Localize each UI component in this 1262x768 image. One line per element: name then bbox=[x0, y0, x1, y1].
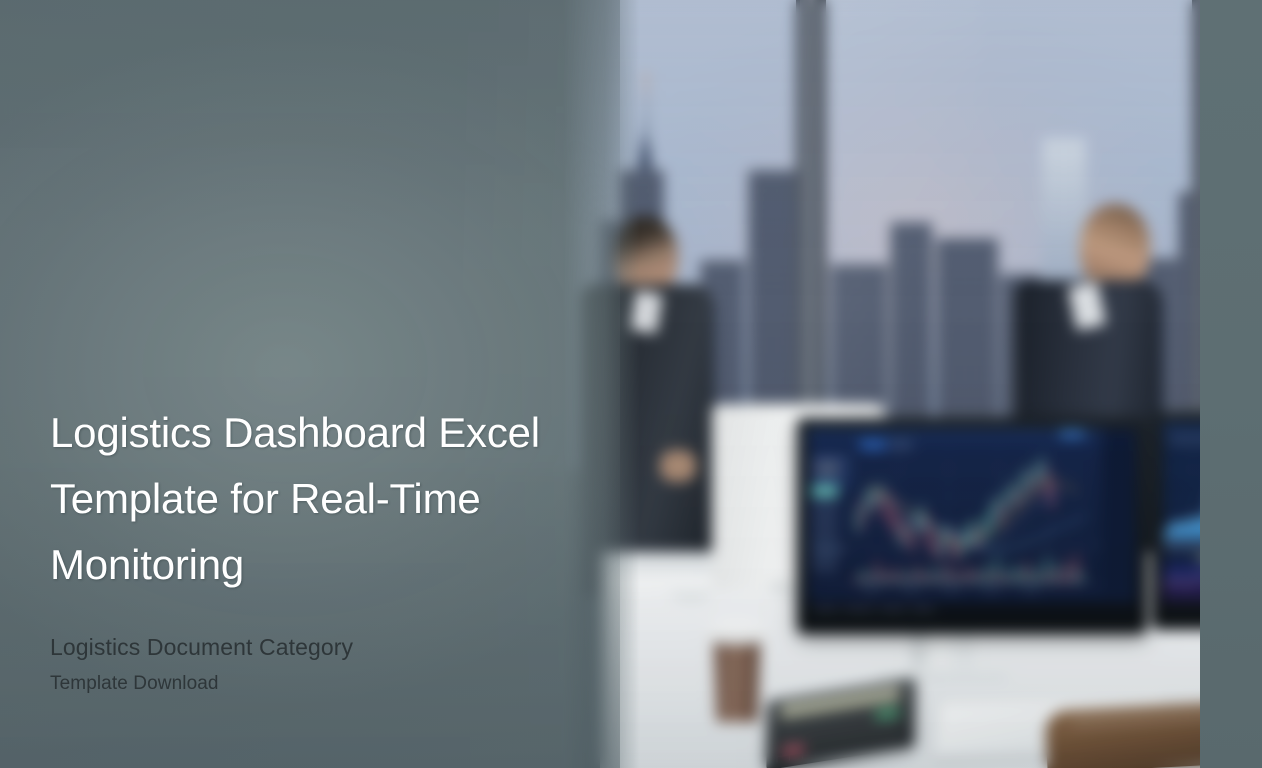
title-block: Logistics Dashboard Excel Template for R… bbox=[50, 400, 610, 697]
volume-panel-label bbox=[814, 549, 848, 552]
axis-label bbox=[904, 589, 918, 592]
spire-needle-icon bbox=[645, 72, 647, 130]
chart-divider bbox=[808, 545, 1102, 546]
chart-axis-x bbox=[808, 585, 1102, 586]
slide-canvas: Logistics Dashboard Excel Template for R… bbox=[0, 0, 1262, 768]
axis-label bbox=[944, 589, 958, 592]
mouse bbox=[670, 583, 712, 601]
status-tab bbox=[880, 607, 906, 611]
volume-histogram bbox=[854, 553, 1086, 583]
price-cell bbox=[812, 527, 838, 532]
status-tab bbox=[814, 607, 838, 611]
right-color-strip bbox=[1200, 0, 1262, 768]
monitor-statusbar bbox=[808, 603, 1136, 615]
head bbox=[1080, 204, 1150, 290]
page-title: Logistics Dashboard Excel Template for R… bbox=[50, 400, 580, 598]
chart-price-scale bbox=[1102, 429, 1136, 603]
document-category-label: Logistics Document Category bbox=[50, 632, 610, 662]
price-highlight bbox=[812, 485, 838, 497]
status-tab bbox=[844, 607, 874, 611]
monitor-stand-base bbox=[876, 668, 1008, 680]
primary-monitor bbox=[797, 418, 1147, 634]
price-cell bbox=[812, 539, 838, 544]
price-cell bbox=[812, 565, 838, 570]
price-cell bbox=[812, 459, 838, 464]
hand bbox=[660, 450, 696, 482]
status-tab bbox=[912, 607, 934, 611]
axis-label bbox=[1024, 589, 1038, 592]
coffee-cup bbox=[710, 640, 764, 722]
window-glass-sheen bbox=[800, 0, 980, 470]
coffee-cup-lid bbox=[704, 621, 770, 645]
template-download-label: Template Download bbox=[50, 671, 610, 697]
axis-label bbox=[864, 589, 878, 592]
price-cell bbox=[812, 503, 838, 508]
axis-label bbox=[984, 589, 998, 592]
primary-monitor-screen bbox=[808, 429, 1136, 603]
monitor-stand-neck bbox=[912, 630, 972, 672]
price-cell bbox=[812, 471, 838, 476]
price-cell bbox=[812, 553, 838, 558]
price-cell bbox=[812, 515, 838, 520]
